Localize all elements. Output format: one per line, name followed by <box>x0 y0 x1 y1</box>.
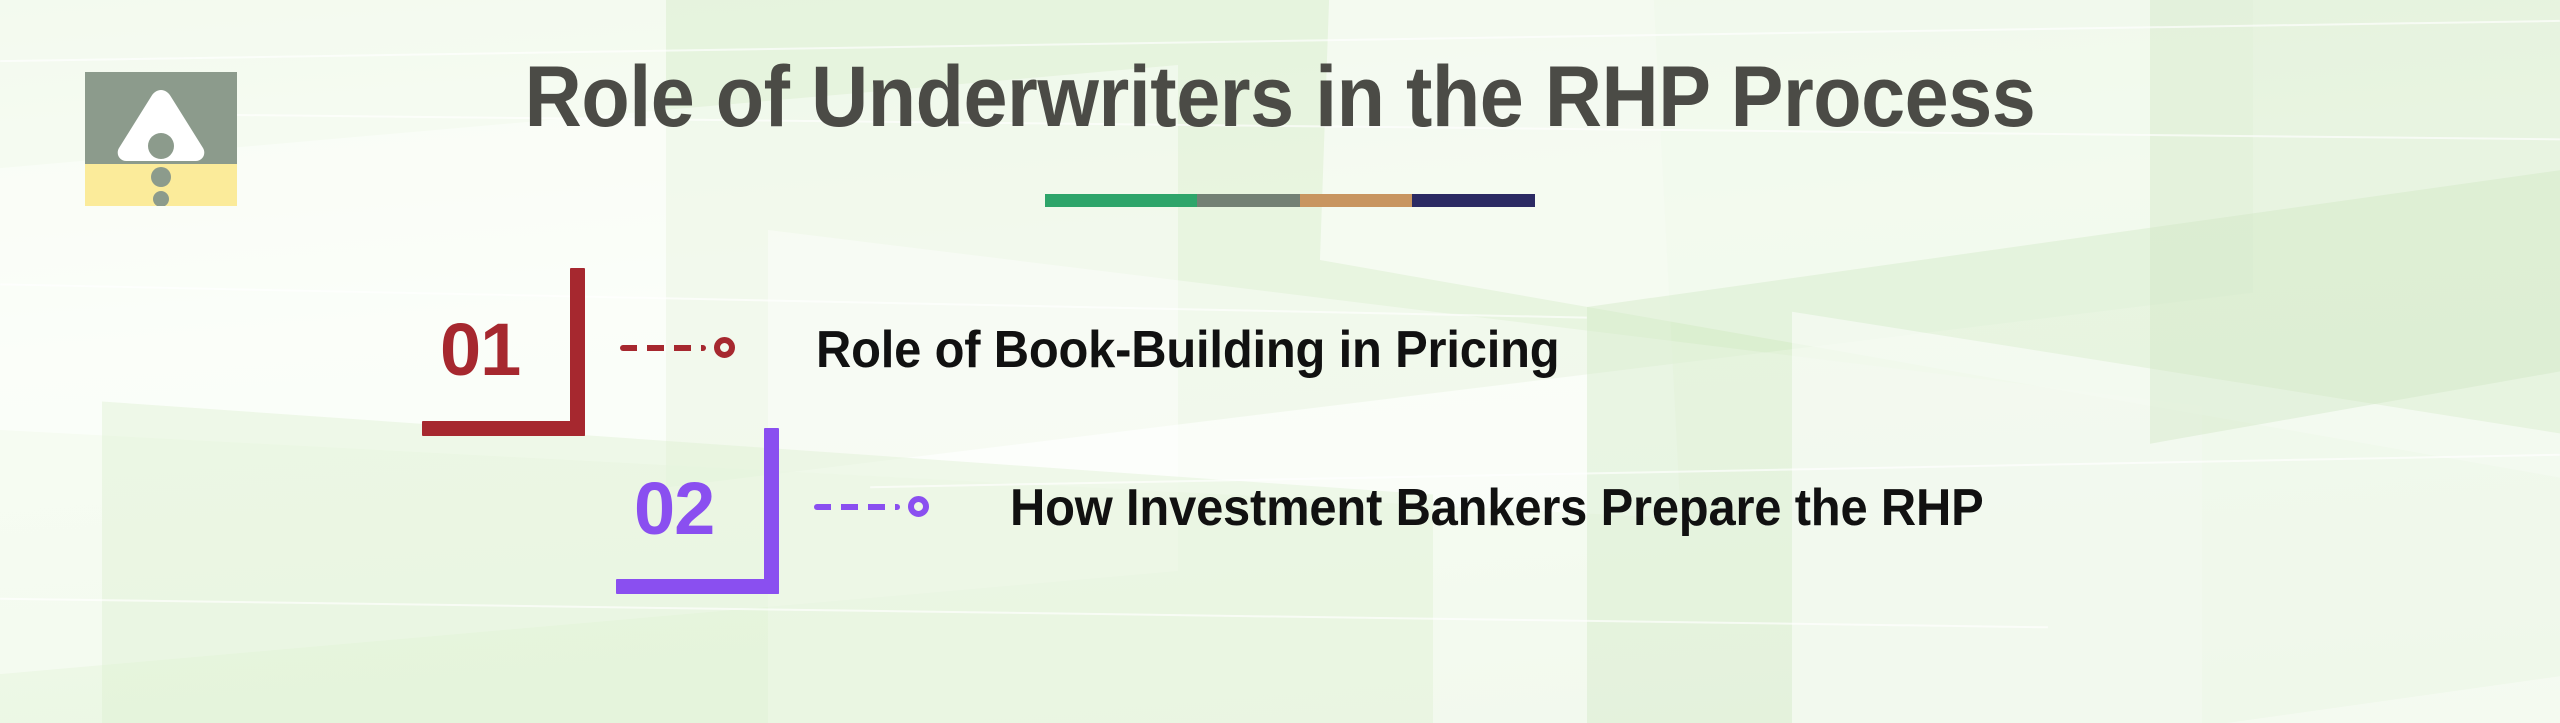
bracket-vertical-bar <box>764 428 779 594</box>
bracket-horizontal-bar <box>616 579 779 594</box>
item-connector-02 <box>814 496 929 517</box>
list-item: 02 How Investment Bankers Prepare the RH… <box>0 0 2560 723</box>
item-number: 02 <box>634 472 714 546</box>
item-label: How Investment Bankers Prepare the RHP <box>1010 478 1983 538</box>
slide-canvas: Role of Underwriters in the RHP Process … <box>0 0 2560 723</box>
circle-marker-icon <box>908 496 929 517</box>
dashed-line-icon <box>814 504 900 510</box>
